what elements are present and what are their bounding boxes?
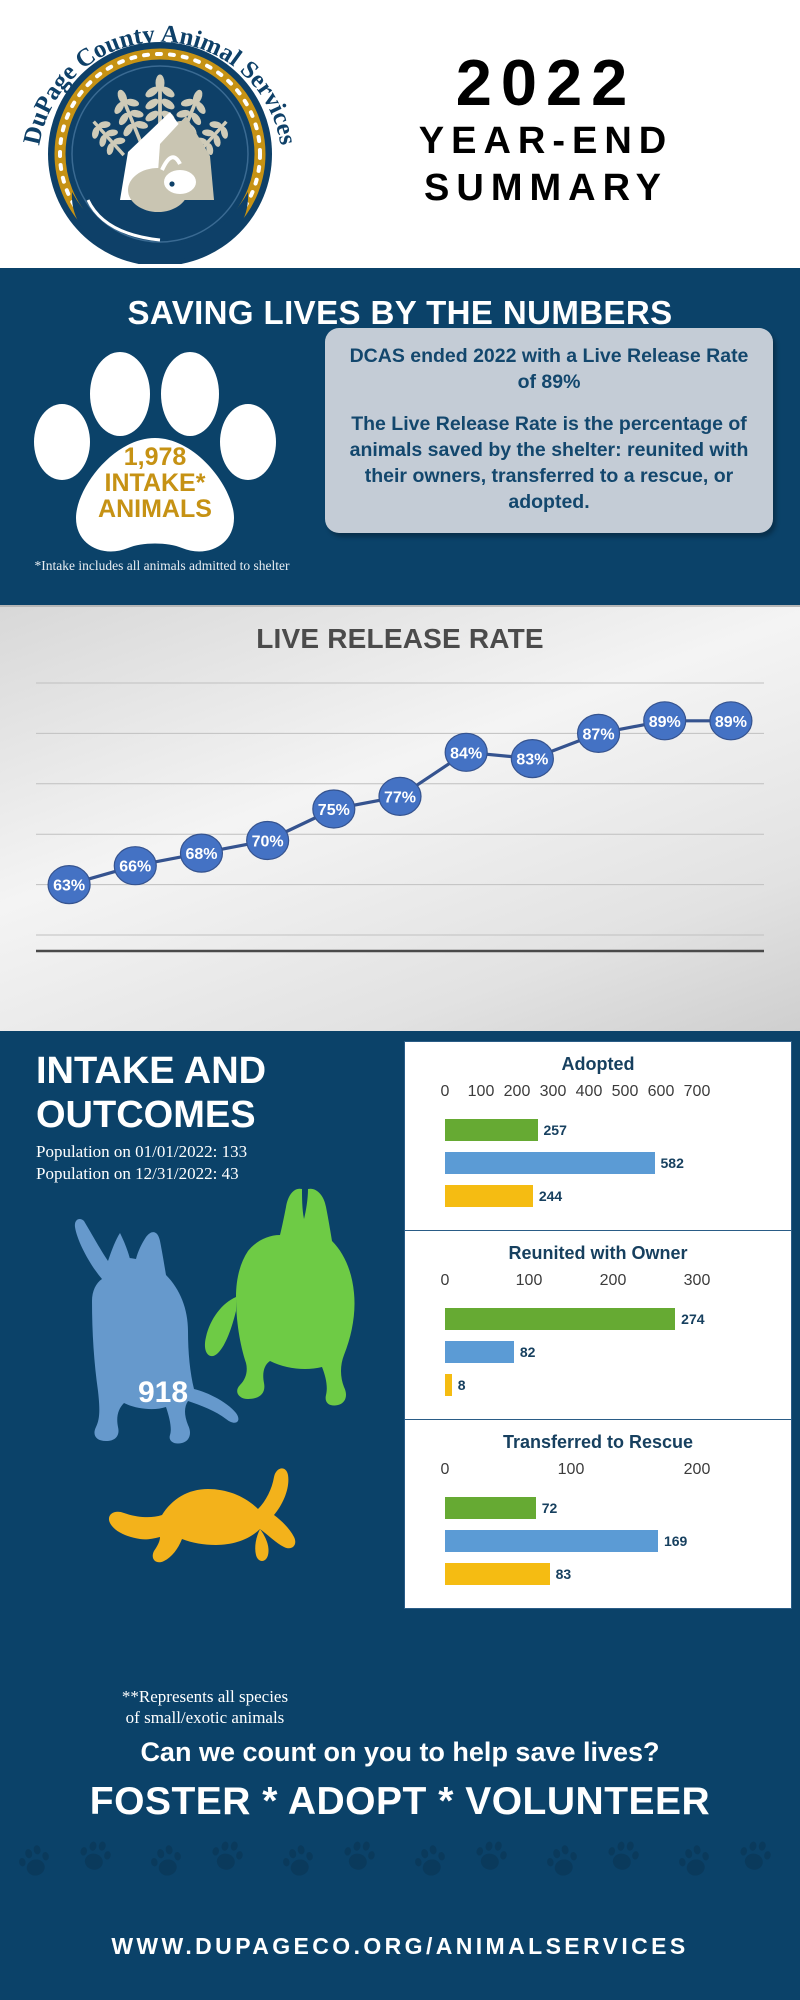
dog-icon [190, 1185, 380, 1415]
paw-print-icon [737, 1837, 773, 1872]
paw-print-icon [544, 1843, 580, 1878]
bar-chart-row: 274 [421, 1306, 775, 1332]
bar-chart-card: Transferred to Rescue01002007216983 [404, 1420, 792, 1609]
bar-chart-value-label: 274 [681, 1311, 704, 1327]
bar-chart-bar [445, 1152, 655, 1174]
page-title-year: 2022 [310, 49, 782, 118]
outcomes-heading-line2: OUTCOMES [36, 1093, 400, 1137]
bar-chart-value-label: 83 [556, 1566, 572, 1582]
bar-chart-x-tick: 600 [648, 1083, 675, 1101]
bar-chart-row: 582 [421, 1150, 775, 1176]
intake-footnote: *Intake includes all animals admitted to… [12, 558, 312, 574]
infographic-page: DuPage County Animal Services 2022 YEAR-… [0, 0, 800, 2000]
intake-word-2: ANIMALS [10, 496, 300, 522]
bar-chart-x-tick: 200 [684, 1461, 711, 1479]
chart-title: LIVE RELEASE RATE [0, 607, 800, 655]
chart-point-label: 77% [384, 789, 416, 806]
dog-silhouette: 721 [190, 1185, 380, 1420]
paw-print-icon [77, 1837, 113, 1872]
chart-point-label: 83% [516, 752, 548, 769]
exotic-footnote-line1: **Represents all species [60, 1686, 350, 1707]
website-url[interactable]: WWW.DUPAGECO.ORG/ANIMALSERVICES [111, 1933, 688, 1960]
bar-chart-x-tick: 500 [612, 1083, 639, 1101]
bar-chart-card: Reunited with Owner0100200300274828 [404, 1231, 792, 1420]
bar-chart-value-label: 82 [520, 1344, 536, 1360]
bar-chart-x-tick: 100 [516, 1272, 543, 1290]
bar-chart-x-tick: 0 [441, 1461, 450, 1479]
paw-strip-icon [0, 1835, 800, 1889]
bar-chart-bar [445, 1308, 675, 1330]
footer: WWW.DUPAGECO.ORG/ANIMALSERVICES [0, 1893, 800, 2000]
bar-chart-bar [445, 1185, 533, 1207]
chart-plot-area: 63%66%68%70%75%77%84%83%87%89%89% [22, 673, 778, 953]
outcomes-heading: INTAKE AND OUTCOMES [0, 1031, 400, 1137]
outcome-bar-charts: Adopted0100200300400500600700257582244Re… [404, 1041, 792, 1609]
chart-point-label: 70% [252, 834, 284, 851]
paw-print-icon [412, 1843, 448, 1878]
bar-chart-x-tick: 100 [558, 1461, 585, 1479]
intake-word-1: INTAKE* [10, 470, 300, 496]
live-release-rate-chart: LIVE RELEASE RATE 63%66%68%70%75%77%84%8… [0, 605, 800, 1031]
bar-chart-x-tick: 200 [504, 1083, 531, 1101]
bar-chart-bar [445, 1530, 658, 1552]
paw-print-label: 1,978 INTAKE* ANIMALS [10, 444, 300, 522]
rabbit-icon [100, 1465, 310, 1575]
bar-chart-row: 169 [421, 1528, 775, 1554]
bar-chart-row: 257 [421, 1117, 775, 1143]
paw-print-strip [0, 1835, 800, 1889]
info-paragraph-2: The Live Release Rate is the percentage … [341, 412, 757, 515]
bar-chart-rows: 274828 [415, 1298, 781, 1411]
bar-chart-axis: 0100200300 [421, 1272, 775, 1294]
population-end: Population on 12/31/2022: 43 [36, 1163, 400, 1185]
exotic-footnote-line2: of small/exotic animals [60, 1707, 350, 1728]
paw-print-icon [148, 1843, 184, 1878]
bar-chart-x-tick: 0 [441, 1272, 450, 1290]
bar-chart-title: Transferred to Rescue [415, 1428, 781, 1461]
saving-lives-heading: SAVING LIVES BY THE NUMBERS [0, 278, 800, 332]
bar-chart-axis: 0100200300400500600700 [421, 1083, 775, 1105]
bar-chart-title: Adopted [415, 1050, 781, 1083]
bar-chart-value-label: 8 [458, 1377, 466, 1393]
bar-chart-row: 72 [421, 1495, 775, 1521]
bar-chart-bar [445, 1374, 452, 1396]
live-release-info-box: DCAS ended 2022 with a Live Release Rate… [325, 328, 773, 533]
bar-chart-x-tick: 300 [684, 1272, 711, 1290]
bar-chart-card: Adopted0100200300400500600700257582244 [404, 1041, 792, 1231]
population-start: Population on 01/01/2022: 133 [36, 1141, 400, 1163]
cta-question: Can we count on you to help save lives? [0, 1737, 800, 1768]
paw-print-icon [280, 1843, 316, 1878]
species-silhouettes: 918 721 339** [0, 1185, 400, 1655]
bar-chart-rows: 257582244 [415, 1109, 781, 1222]
intake-count: 1,978 [10, 444, 300, 470]
outcomes-left-column: INTAKE AND OUTCOMES Population on 01/01/… [0, 1031, 400, 1733]
page-title-sub1: YEAR-END [310, 118, 782, 166]
header: DuPage County Animal Services 2022 YEAR-… [0, 0, 800, 268]
bar-chart-row: 82 [421, 1339, 775, 1365]
bar-chart-x-tick: 700 [684, 1083, 711, 1101]
bar-chart-x-tick: 100 [468, 1083, 495, 1101]
bar-chart-value-label: 244 [539, 1188, 562, 1204]
bar-chart-axis: 0100200 [421, 1461, 775, 1483]
outcomes-heading-line1: INTAKE AND [36, 1049, 400, 1093]
chart-point-label: 87% [583, 726, 615, 743]
cta-actions: FOSTER * ADOPT * VOLUNTEER [0, 1768, 800, 1824]
dcas-logo: DuPage County Animal Services [10, 4, 310, 264]
chart-point-label: 84% [450, 745, 482, 762]
rabbit-silhouette: 339** [100, 1465, 310, 1580]
chart-point-label: 68% [185, 846, 217, 863]
chart-point-label: 63% [53, 878, 85, 895]
title-block: 2022 YEAR-END SUMMARY [310, 49, 800, 213]
bar-chart-x-tick: 200 [600, 1272, 627, 1290]
chart-point-label: 89% [715, 714, 747, 731]
paw-print-icon [605, 1837, 641, 1872]
paw-print-icon [473, 1837, 509, 1872]
saving-lives-section: SAVING LIVES BY THE NUMBERS 1,978 INTAKE… [0, 268, 800, 605]
population-stats: Population on 01/01/2022: 133 Population… [0, 1137, 400, 1185]
bar-chart-value-label: 257 [544, 1122, 567, 1138]
bar-chart-x-tick: 0 [441, 1083, 450, 1101]
bar-chart-value-label: 72 [542, 1500, 558, 1516]
bar-chart-bar [445, 1119, 538, 1141]
exotic-footnote: **Represents all species of small/exotic… [60, 1686, 350, 1729]
cat-count: 918 [138, 1376, 188, 1410]
chart-point-label: 89% [649, 714, 681, 731]
line-chart-svg: 63%66%68%70%75%77%84%83%87%89%89% [22, 673, 778, 953]
bar-chart-bar [445, 1497, 536, 1519]
logo-icon: DuPage County Animal Services [10, 4, 310, 264]
info-paragraph-1: DCAS ended 2022 with a Live Release Rate… [341, 344, 757, 395]
chart-point-label: 75% [318, 802, 350, 819]
bar-chart-row: 8 [421, 1372, 775, 1398]
bar-chart-row: 83 [421, 1561, 775, 1587]
chart-point-label: 66% [119, 859, 151, 876]
paw-print-icon [341, 1837, 377, 1872]
bar-chart-x-tick: 300 [540, 1083, 567, 1101]
bar-chart-value-label: 582 [661, 1155, 684, 1171]
bar-chart-x-tick: 400 [576, 1083, 603, 1101]
bar-chart-rows: 7216983 [415, 1487, 781, 1600]
intake-outcomes-section: INTAKE AND OUTCOMES Population on 01/01/… [0, 1031, 800, 1733]
paw-print-icon [209, 1837, 245, 1872]
call-to-action: Can we count on you to help save lives? … [0, 1733, 800, 1893]
bar-chart-bar [445, 1563, 550, 1585]
paw-print-icon [16, 1843, 52, 1878]
page-title-sub2: SUMMARY [310, 165, 782, 213]
bar-chart-value-label: 169 [664, 1533, 687, 1549]
bar-chart-title: Reunited with Owner [415, 1239, 781, 1272]
bar-chart-row: 244 [421, 1183, 775, 1209]
paw-print-stat: 1,978 INTAKE* ANIMALS [10, 348, 300, 568]
paw-print-icon [676, 1843, 712, 1878]
bar-chart-bar [445, 1341, 514, 1363]
